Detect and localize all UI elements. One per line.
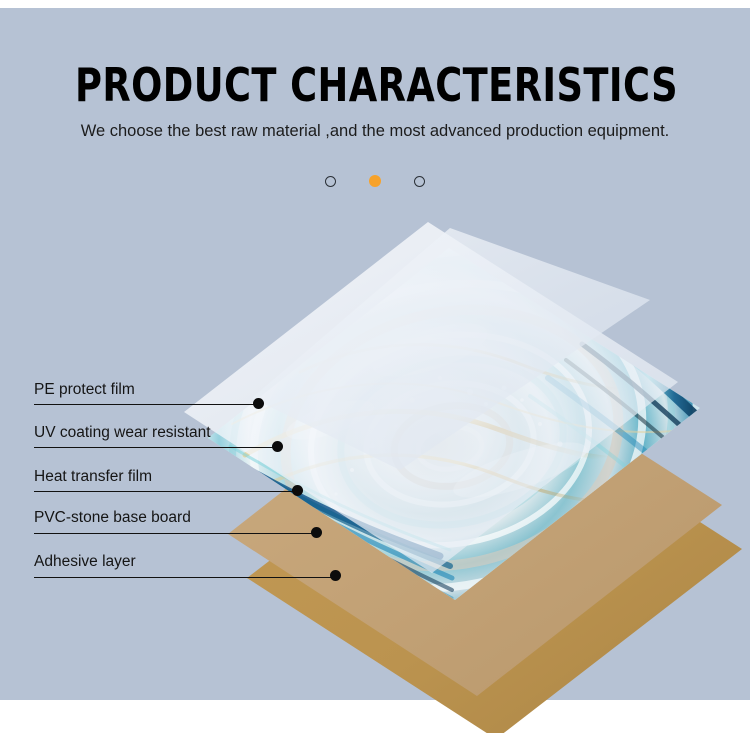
callout-dot-pvc-stone-base-board <box>311 527 322 538</box>
page-subtitle: We choose the best raw material ,and the… <box>0 121 750 141</box>
callout-rule-pvc-stone-base-board <box>34 533 316 534</box>
callout-label-uv-coating-wear-resistant: UV coating wear resistant <box>34 424 211 442</box>
pagination-dot-3[interactable] <box>414 176 425 187</box>
callout-dot-adhesive-layer <box>330 570 341 581</box>
page-title: PRODUCT CHARACTERISTICS <box>75 60 675 110</box>
callout-label-adhesive-layer: Adhesive layer <box>34 553 136 571</box>
callout-label-pvc-stone-base-board: PVC-stone base board <box>34 509 191 527</box>
callout-adhesive-layer: Adhesive layer <box>34 553 136 571</box>
callout-rule-uv-coating-wear-resistant <box>34 447 277 448</box>
pagination-dot-1[interactable] <box>325 176 336 187</box>
pagination-dots <box>0 175 750 187</box>
callout-dot-heat-transfer-film <box>292 485 303 496</box>
callout-heat-transfer-film: Heat transfer film <box>34 468 152 486</box>
callout-pe-protect-film: PE protect film <box>34 381 135 399</box>
callout-label-heat-transfer-film: Heat transfer film <box>34 468 152 486</box>
callout-rule-adhesive-layer <box>34 577 335 578</box>
callout-label-pe-protect-film: PE protect film <box>34 381 135 399</box>
callout-rule-pe-protect-film <box>34 404 258 405</box>
product-characteristics-slide: PRODUCT CHARACTERISTICS We choose the be… <box>0 0 750 733</box>
callout-dot-uv-coating-wear-resistant <box>272 441 283 452</box>
callout-uv-coating-wear-resistant: UV coating wear resistant <box>34 424 211 442</box>
callout-pvc-stone-base-board: PVC-stone base board <box>34 509 191 527</box>
callout-rule-heat-transfer-film <box>34 491 297 492</box>
pagination-dot-2[interactable] <box>369 175 381 187</box>
callout-dot-pe-protect-film <box>253 398 264 409</box>
